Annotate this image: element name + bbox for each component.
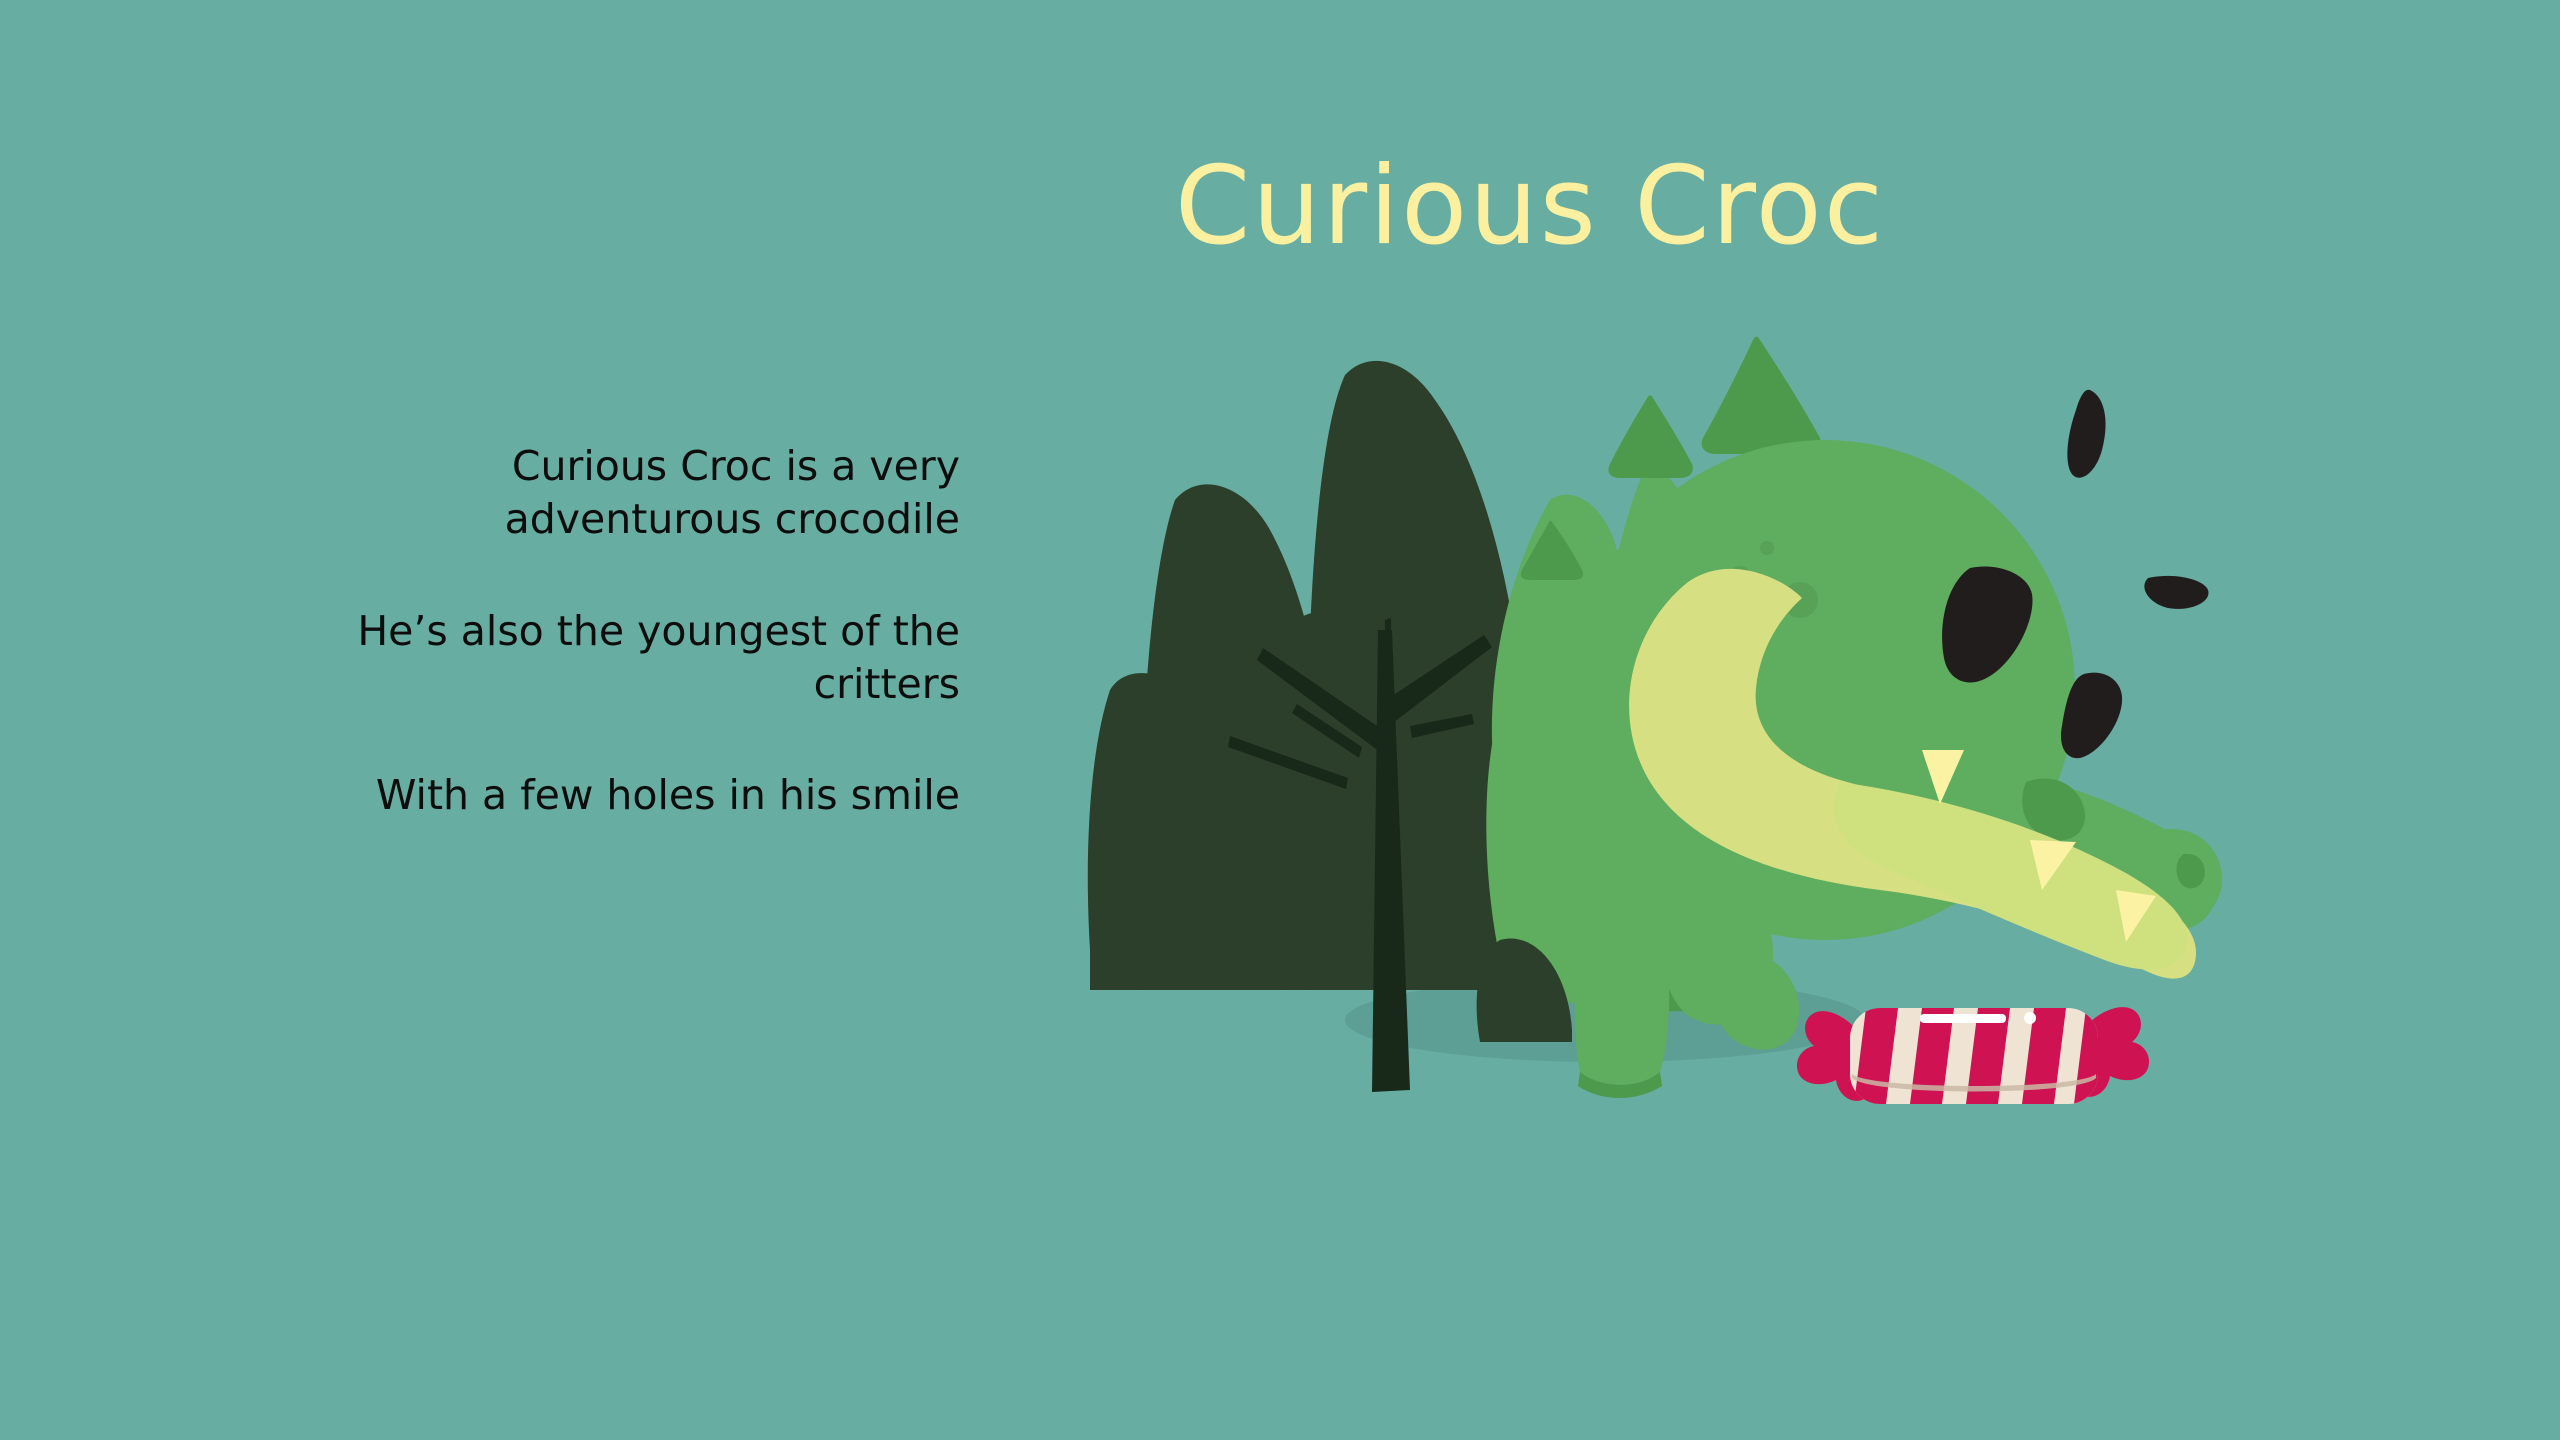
candy-highlight-bar — [1920, 1014, 2006, 1023]
croc-illustration — [1080, 330, 2480, 1230]
page-title: Curious Croc — [0, 148, 2560, 267]
croc-leg — [1575, 930, 1669, 1098]
description-line-1: Curious Croc is a very adventurous croco… — [300, 440, 960, 547]
description-line-3: With a few holes in his smile — [300, 769, 960, 822]
description-text-block: Curious Croc is a very adventurous croco… — [300, 440, 960, 822]
slide-canvas: Curious Croc Curious Croc is a very adve… — [0, 0, 2560, 1440]
description-line-2: He’s also the youngest of the critters — [300, 605, 960, 712]
candy-highlight-dot — [2024, 1012, 2036, 1024]
